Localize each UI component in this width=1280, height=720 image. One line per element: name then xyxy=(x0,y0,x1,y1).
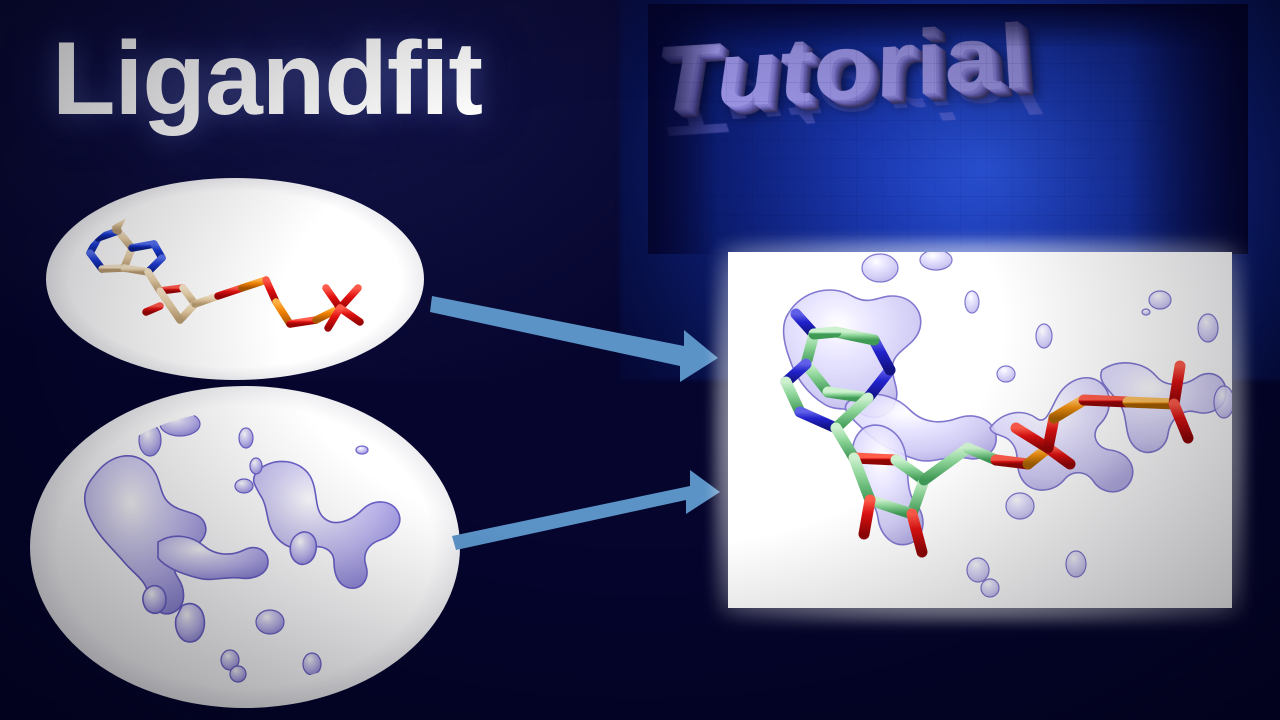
arrow-density-to-result xyxy=(452,462,722,562)
page-title: Ligandfit xyxy=(52,22,482,136)
density-oval-panel xyxy=(62,410,428,684)
fitted-ligand-in-density xyxy=(728,252,1232,608)
tutorial-3d-art: Tutorial Tutorial xyxy=(648,4,1248,254)
tutorial-fade-top xyxy=(648,4,1248,48)
result-panel xyxy=(728,252,1232,608)
ligand-oval-panel xyxy=(76,196,394,362)
atp-ligand-model xyxy=(76,196,394,362)
electron-density-surface xyxy=(62,410,428,684)
arrow-ligand-to-result xyxy=(430,286,720,396)
slide-root: Tutorial Tutorial Ligandfit xyxy=(0,0,1280,720)
